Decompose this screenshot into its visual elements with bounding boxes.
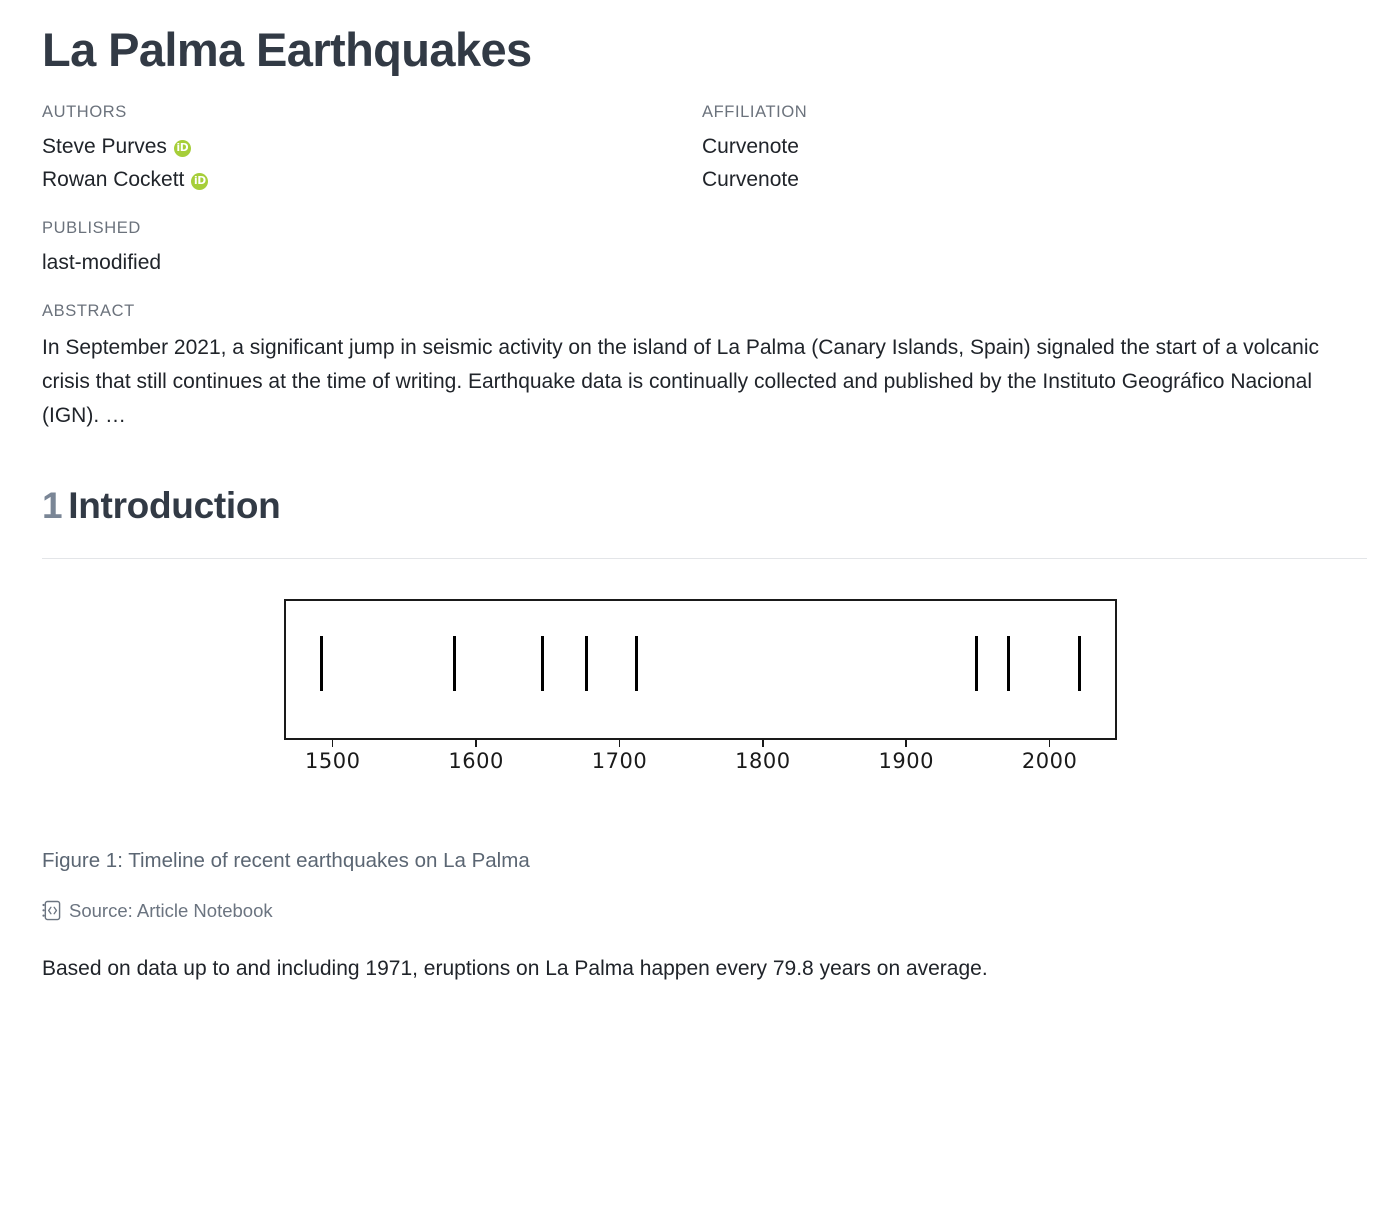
timeline-plot: 150016001700180019002000 xyxy=(284,599,1124,799)
x-axis-tick-label: 2000 xyxy=(1022,749,1077,773)
x-axis-tick xyxy=(619,740,621,747)
orcid-icon[interactable]: iD xyxy=(191,173,208,190)
notebook-code-icon xyxy=(42,900,61,921)
abstract-block: ABSTRACT In September 2021, a significan… xyxy=(42,302,1342,433)
published-label: PUBLISHED xyxy=(42,219,1342,239)
x-axis-tick-label: 1800 xyxy=(735,749,790,773)
timeline-event-mark xyxy=(541,636,544,691)
x-axis-tick xyxy=(762,740,764,747)
body-paragraph: Based on data up to and including 1971, … xyxy=(42,952,1292,986)
x-axis-tick-label: 1600 xyxy=(448,749,503,773)
x-axis-tick xyxy=(1049,740,1051,747)
affiliation-value: Curvenote xyxy=(702,164,1342,197)
x-axis-tick xyxy=(475,740,477,747)
x-axis-tick xyxy=(905,740,907,747)
timeline-event-mark xyxy=(1078,636,1081,691)
x-axis-tick-label: 1700 xyxy=(592,749,647,773)
section-title: Introduction xyxy=(68,485,280,526)
x-axis-tick xyxy=(332,740,334,747)
abstract-text: In September 2021, a significant jump in… xyxy=(42,331,1342,433)
page-title: La Palma Earthquakes xyxy=(42,24,1342,77)
figure-caption: Figure 1: Timeline of recent earthquakes… xyxy=(42,847,1342,876)
orcid-icon[interactable]: iD xyxy=(174,140,191,157)
author-row: Rowan Cockett iD xyxy=(42,164,702,197)
authors-block: AUTHORS Steve Purves iD Rowan Cockett iD xyxy=(42,103,702,197)
timeline-event-mark xyxy=(320,636,323,691)
section-heading: 1Introduction xyxy=(42,485,1342,528)
affiliation-block: AFFILIATION Curvenote Curvenote xyxy=(702,103,1342,197)
document-page: La Palma Earthquakes AUTHORS Steve Purve… xyxy=(0,0,1382,986)
author-row: Steve Purves iD xyxy=(42,131,702,164)
x-axis-tick-label: 1500 xyxy=(305,749,360,773)
section-divider xyxy=(42,558,1367,559)
x-axis-tick-label: 1900 xyxy=(879,749,934,773)
affiliation-value: Curvenote xyxy=(702,131,1342,164)
author-name: Rowan Cockett xyxy=(42,164,184,197)
frontmatter: AUTHORS Steve Purves iD Rowan Cockett iD… xyxy=(42,103,1342,197)
plot-frame xyxy=(284,599,1117,740)
timeline-event-mark xyxy=(453,636,456,691)
timeline-event-mark xyxy=(585,636,588,691)
authors-label: AUTHORS xyxy=(42,103,702,123)
figure-source-label: Source: Article Notebook xyxy=(69,900,273,922)
figure-1: 150016001700180019002000 xyxy=(42,599,1342,799)
affiliation-label: AFFILIATION xyxy=(702,103,1342,123)
published-value: last-modified xyxy=(42,247,1342,280)
figure-source[interactable]: Source: Article Notebook xyxy=(42,900,1342,922)
abstract-label: ABSTRACT xyxy=(42,302,1342,322)
timeline-event-mark xyxy=(1007,636,1010,691)
author-name: Steve Purves xyxy=(42,131,167,164)
timeline-event-mark xyxy=(635,636,638,691)
timeline-event-mark xyxy=(975,636,978,691)
published-block: PUBLISHED last-modified xyxy=(42,219,1342,280)
section-number: 1 xyxy=(42,485,62,526)
